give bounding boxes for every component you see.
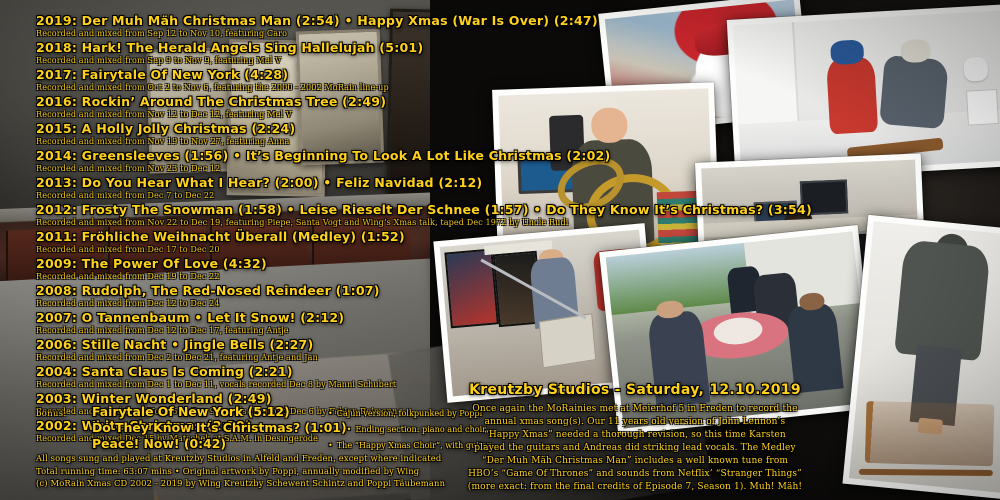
liner-notes: Kreutzby Studios - Saturday, 12.10.2019 …	[440, 382, 830, 494]
fine-print: All songs sung and played at Kreutzby St…	[36, 452, 466, 490]
liner-notes-heading: Kreutzby Studios - Saturday, 12.10.2019	[440, 382, 830, 398]
track-recording-note: Recorded and mixed from Sep 12 to Nov 10…	[36, 28, 596, 39]
track-entry: 2006: Stille Nacht • Jingle Bells (2:27)…	[36, 338, 596, 363]
bonus-label: bonus:	[36, 406, 92, 420]
track-recording-note: Recorded and mixed from Nov 19 to Nov 27…	[36, 136, 596, 147]
bullet-icon: •	[347, 424, 352, 434]
track-entry: 2016: Rockin’ Around The Christmas Tree …	[36, 95, 596, 120]
track-title: 2015: A Holly Jolly Christmas (2:24)	[36, 122, 596, 136]
track-recording-note: Recorded and mixed from Nov 12 to Dec 12…	[36, 109, 596, 120]
track-recording-note: Recorded and mixed from Sep 9 to Nov 9, …	[36, 55, 596, 66]
bonus-track-row: Peace! Now! (0:42)•The “Happy Xmas Choir…	[36, 437, 456, 452]
track-title: 2006: Stille Nacht • Jingle Bells (2:27)	[36, 338, 596, 352]
track-entry: 2017: Fairytale Of New York (4:28)Record…	[36, 68, 596, 93]
track-entry: 2013: Do You Hear What I Hear? (2:00) • …	[36, 176, 596, 201]
photo-sledding-image	[733, 11, 1000, 176]
track-entry: 2015: A Holly Jolly Christmas (2:24)Reco…	[36, 122, 596, 147]
track-entry: 2007: O Tannenbaum • Let It Snow! (2:12)…	[36, 311, 596, 336]
bonus-track-title: Fairytale Of New York (5:12)	[92, 405, 328, 419]
bullet-icon: •	[328, 408, 333, 418]
bonus-track-title: Do They Know It’s Christmas? (1:01)	[92, 421, 347, 435]
track-title: 2013: Do You Hear What I Hear? (2:00) • …	[36, 176, 596, 190]
track-title: 2004: Santa Claus Is Coming (2:21)	[36, 365, 596, 379]
liner-notes-line: Once again the MoRainies met at Meierhof…	[440, 403, 830, 416]
liner-notes-line: played the guitars and Andreas did strik…	[440, 442, 830, 455]
track-recording-note: Recorded and mixed from Dec 12 to Dec 24	[36, 298, 596, 309]
bonus-track-row: Do They Know It’s Christmas? (1:01)•Endi…	[36, 421, 456, 436]
track-entry: 2019: Der Muh Mäh Christmas Man (2:54) •…	[36, 14, 596, 39]
liner-notes-line: “Der Muh Mäh Christmas Man” includes a w…	[440, 455, 830, 468]
liner-notes-line: annual xmas song(s). Our 11 years old ve…	[440, 416, 830, 429]
track-title: 2012: Frosty The Snowman (1:58) • Leise …	[36, 203, 596, 217]
track-title: 2016: Rockin’ Around The Christmas Tree …	[36, 95, 596, 109]
fine-print-line: All songs sung and played at Kreutzby St…	[36, 452, 466, 465]
track-title: 2017: Fairytale Of New York (4:28)	[36, 68, 596, 82]
track-entry: 2018: Hark! The Herald Angels Sing Halle…	[36, 41, 596, 66]
track-entry: 2009: The Power Of Love (4:32)Recorded a…	[36, 257, 596, 282]
track-recording-note: Recorded and mixed from Dec 19 to Dec 22	[36, 271, 596, 282]
fine-print-line: (c) MoRain Xmas CD 2002 - 2019 by Wing K…	[36, 477, 466, 490]
track-recording-note: Recorded and mixed from Dec 17 to Dec 20	[36, 244, 596, 255]
liner-notes-body: Once again the MoRainies met at Meierhof…	[440, 403, 830, 494]
track-title: 2008: Rudolph, The Red-Nosed Reindeer (1…	[36, 284, 596, 298]
track-title: 2007: O Tannenbaum • Let It Snow! (2:12)	[36, 311, 596, 325]
bonus-track-title: Peace! Now! (0:42)	[92, 437, 328, 451]
liner-notes-line: (more exact: from the final credits of E…	[440, 481, 830, 494]
track-recording-note: Recorded and mixed from Nov 22 to Dec 19…	[36, 217, 596, 228]
bullet-icon: •	[328, 440, 333, 450]
bonus-tracks: bonus:Fairytale Of New York (5:12)•Cajun…	[36, 405, 456, 453]
bonus-track-row: bonus:Fairytale Of New York (5:12)•Cajun…	[36, 405, 456, 420]
track-entry: 2012: Frosty The Snowman (1:58) • Leise …	[36, 203, 596, 228]
track-title: 2011: Fröhliche Weihnacht Überall (Medle…	[36, 230, 596, 244]
track-recording-note: Recorded and mixed from Dec 12 to Dec 17…	[36, 325, 596, 336]
album-inlay-artwork: 2019: Der Muh Mäh Christmas Man (2:54) •…	[0, 0, 1000, 500]
track-title: 2019: Der Muh Mäh Christmas Man (2:54) •…	[36, 14, 596, 28]
track-title: 2014: Greensleeves (1:56) • It’s Beginni…	[36, 149, 596, 163]
fine-print-line: Total running time: 63:07 mins • Origina…	[36, 465, 466, 478]
track-recording-note: Recorded and mixed from Dec 7 to Dec 22	[36, 190, 596, 201]
track-entry: 2011: Fröhliche Weihnacht Überall (Medle…	[36, 230, 596, 255]
liner-notes-line: HBO’s “Game Of Thrones” and sounds from …	[440, 468, 830, 481]
liner-notes-line: “Happy Xmas” needed a thorough revision,…	[440, 429, 830, 442]
track-title: 2018: Hark! The Herald Angels Sing Halle…	[36, 41, 596, 55]
track-entry: 2014: Greensleeves (1:56) • It’s Beginni…	[36, 149, 596, 174]
photo-sled-man	[842, 215, 1000, 499]
photo-sled-man-image	[849, 221, 1000, 492]
track-recording-note: Recorded and mixed from Oct 2 to Nov 6, …	[36, 82, 596, 93]
track-recording-note: Recorded and mixed from Dec 2 to Dec 21,…	[36, 352, 596, 363]
track-entry: 2008: Rudolph, The Red-Nosed Reindeer (1…	[36, 284, 596, 309]
track-title: 2009: The Power Of Love (4:32)	[36, 257, 596, 271]
track-recording-note: Recorded and mixed from Nov 23 to Dec 12	[36, 163, 596, 174]
